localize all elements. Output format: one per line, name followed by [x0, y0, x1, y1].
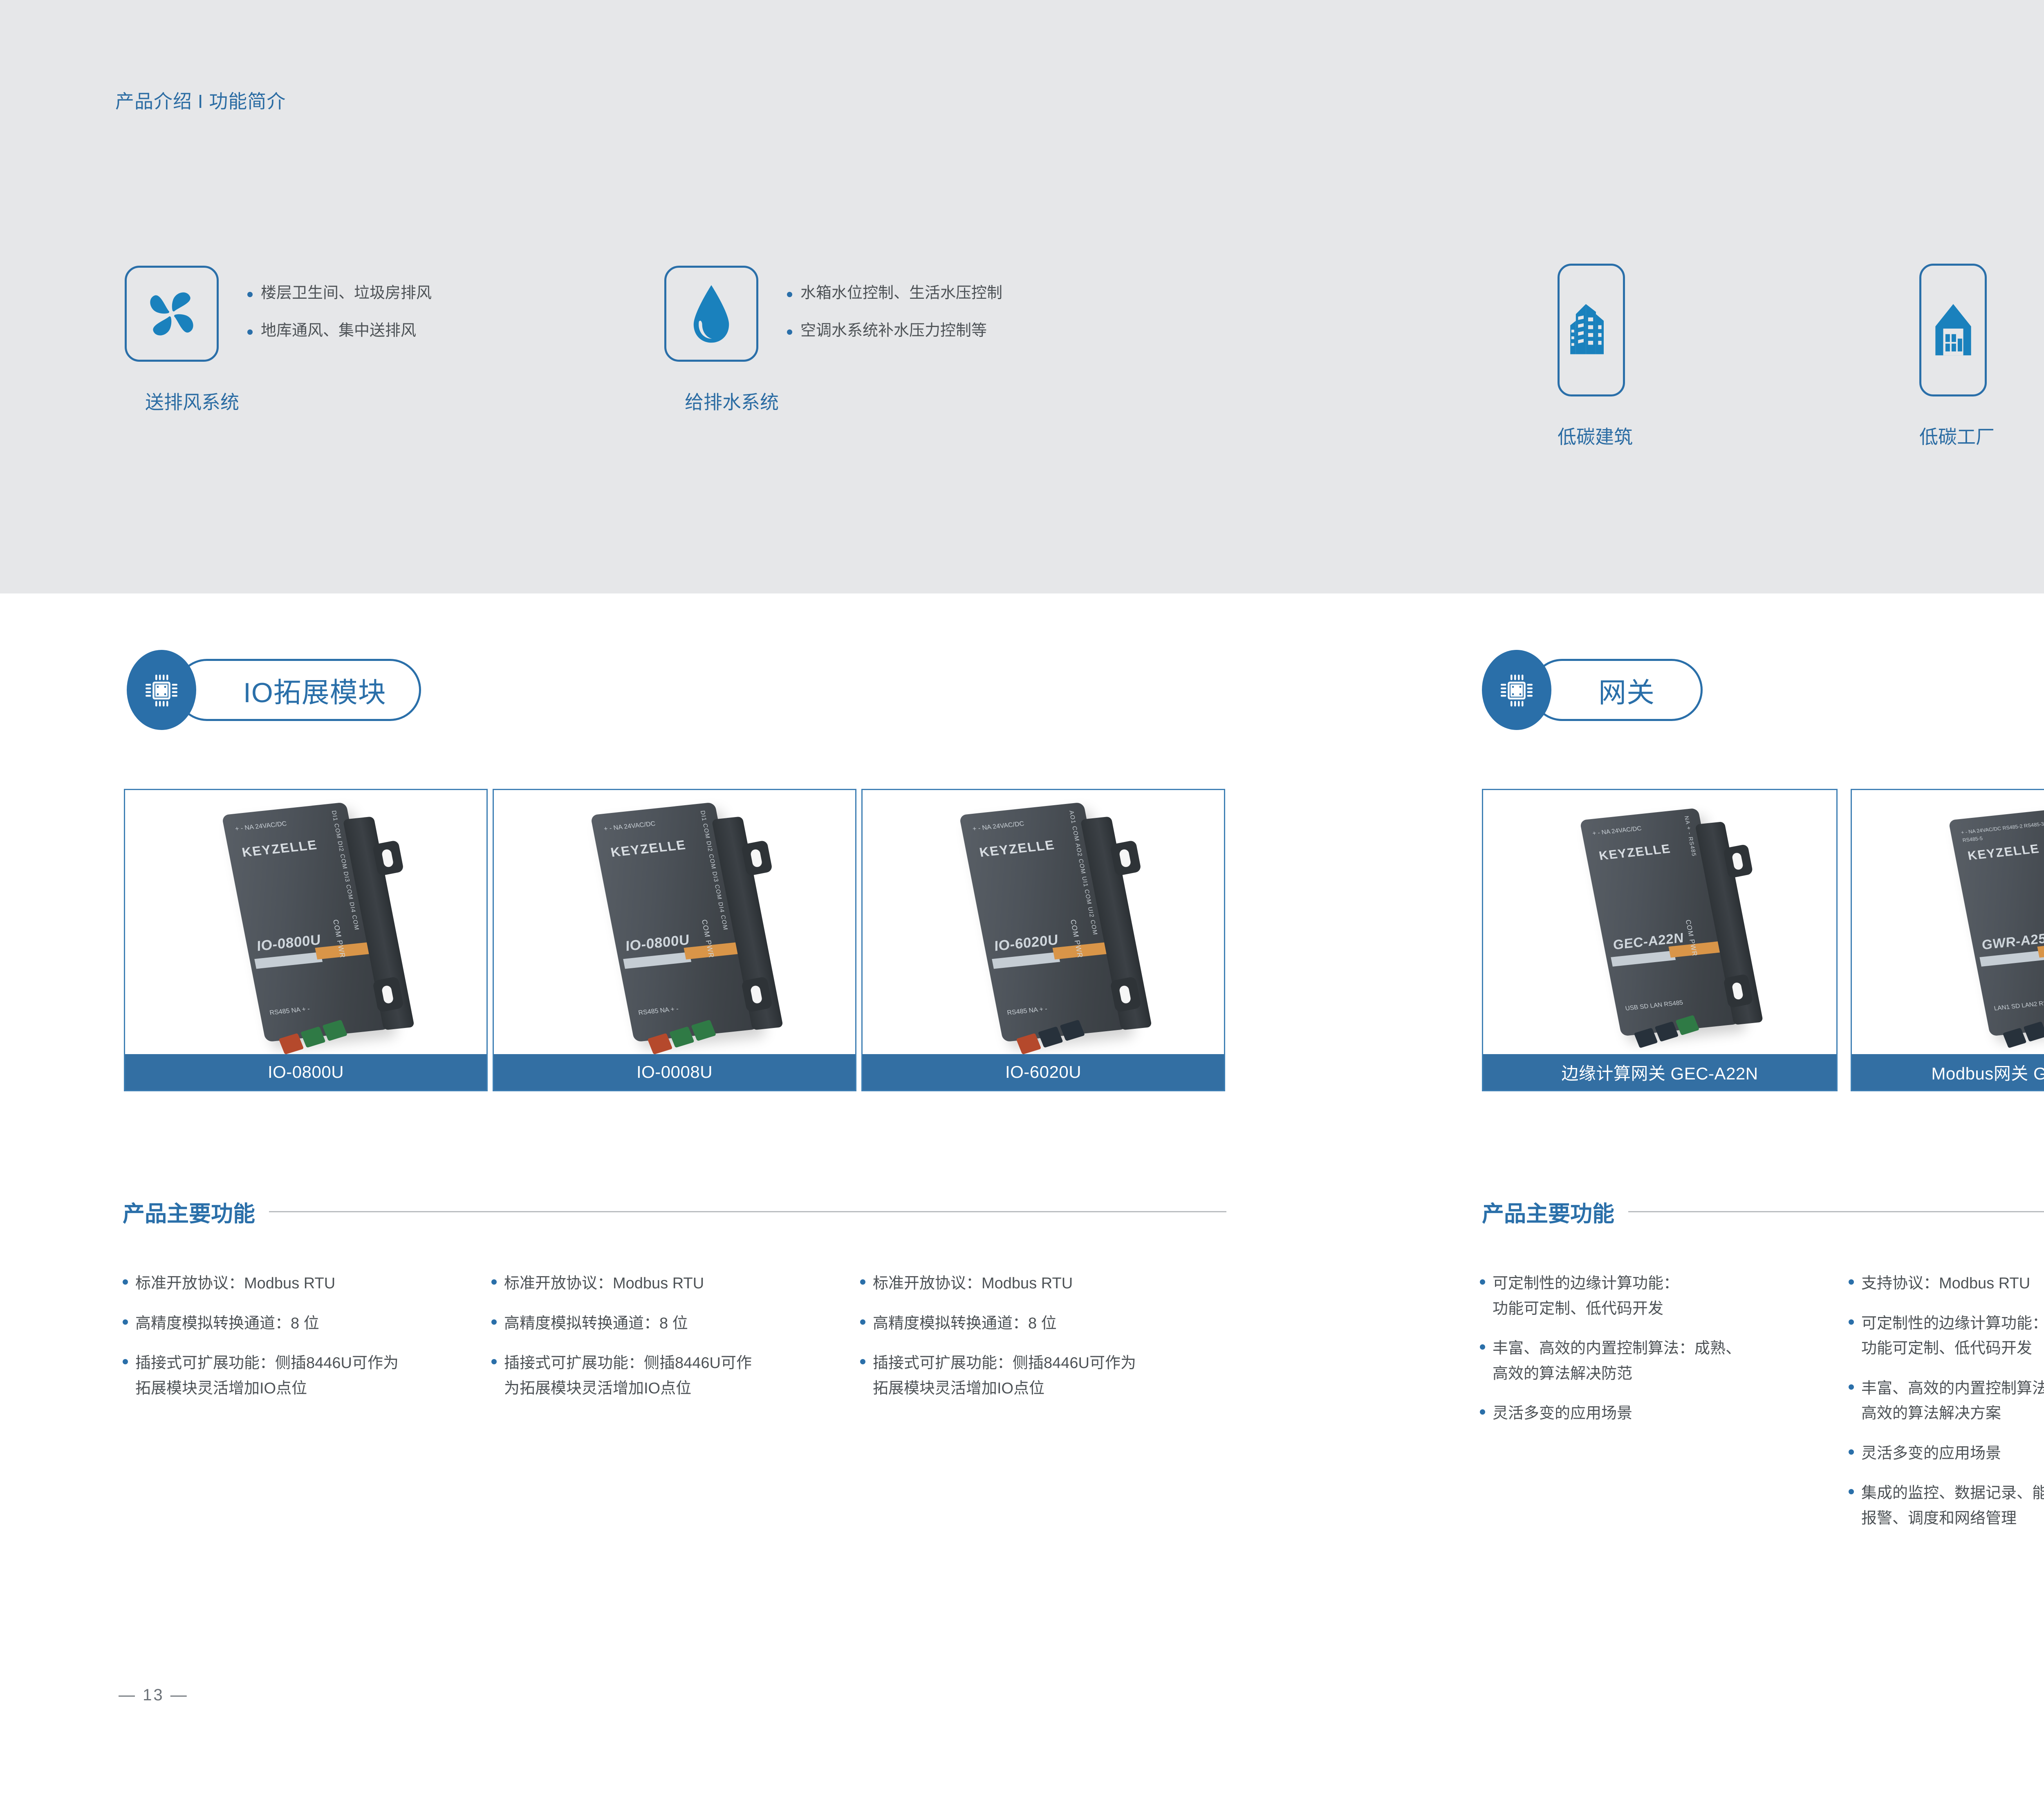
- spec-list-gateway-col2: 支持协议：Modbus RTU 可定制性的边缘计算功能： 功能可定制、低代码开发…: [1849, 1271, 2044, 1546]
- bullet-dot: [491, 1319, 497, 1325]
- device-connectors: [2003, 1015, 2044, 1048]
- bullet-text: 空调水系统补水压力控制等: [800, 321, 987, 341]
- bullet-dot: [247, 329, 253, 335]
- list-item: 水箱水位控制、生活水压控制: [787, 284, 1002, 303]
- device-stripe-white: [623, 952, 691, 969]
- device-body: + - NA 24VAC/DC RS485-2 RS485-3 RS485-4 …: [1948, 808, 2044, 1037]
- office-building-icon: [1569, 300, 1614, 361]
- fan-icon: [141, 283, 202, 345]
- device-illustration: + - NA 24VAC/DC DI1 COM DI2 COM DI3 COM …: [244, 806, 368, 1038]
- device-top-text: + - NA 24VAC/DC: [234, 819, 287, 834]
- feature-bullet-list: 水箱水位控制、生活水压控制 空调水系统补水压力控制等: [787, 284, 1002, 358]
- feature-icon-box: [1919, 264, 1987, 396]
- device-brand: KEYZELLE: [241, 837, 319, 860]
- product-image: + - NA 24VAC/DC DI1 COM DI2 COM DI3 COM …: [125, 790, 486, 1054]
- device-bottom-text: LAN1 SD LAN2 RS485-1: [1993, 997, 2044, 1013]
- list-item: 灵活多变的应用场景: [1480, 1401, 1831, 1426]
- bullet-dot: [1480, 1344, 1485, 1350]
- list-item: 丰富、高效的内置控制算法：成熟、 高效的算法解决方案: [1849, 1376, 2044, 1426]
- list-item: 灵活多变的应用场景: [1849, 1441, 2044, 1467]
- page-number-left: — 13 —: [119, 1686, 188, 1704]
- spec-list-col3: 标准开放协议：Modbus RTU 高精度模拟转换通道：8 位 插接式可扩展功能…: [860, 1271, 1220, 1416]
- factory-icon: [1931, 300, 1976, 361]
- list-item: 空调水系统补水压力控制等: [787, 321, 1002, 341]
- bullet-dot: [860, 1279, 865, 1285]
- brochure-spread: 产品介绍 I 功能简介 产品介绍 I 功能简介 送排风系统 楼层卫生间、垃圾房排…: [0, 0, 2044, 1798]
- spec-text: 插接式可扩展功能：侧插8446U可作 为拓展模块灵活增加IO点位: [504, 1351, 752, 1401]
- device-brand: KEYZELLE: [1598, 842, 1672, 864]
- list-item: 丰富、高效的内置控制算法：成熟、 高效的算法解决防范: [1480, 1336, 1831, 1386]
- list-item: 高精度模拟转换通道：8 位: [123, 1311, 482, 1337]
- device-illustration: + - NA 24VAC/DC NA + - RS485 KEYZELLE GE…: [1600, 812, 1719, 1032]
- list-item: 高精度模拟转换通道：8 位: [860, 1311, 1220, 1337]
- device-stripe-white: [1979, 951, 2044, 967]
- bullet-dot: [1480, 1279, 1485, 1285]
- product-card[interactable]: + - NA 24VAC/DC DI1 COM DI2 COM DI3 COM …: [493, 789, 856, 1091]
- feature-caption: 送排风系统: [125, 387, 260, 414]
- product-image: + - NA 24VAC/DC NA + - RS485 KEYZELLE GE…: [1483, 790, 1836, 1054]
- list-item: 插接式可扩展功能：侧插8446U可作为 拓展模块灵活增加IO点位: [860, 1351, 1220, 1401]
- feature-bullet-list: 楼层卫生间、垃圾房排风 地库通风、集中送排风: [247, 284, 432, 358]
- list-item: 标准开放协议：Modbus RTU: [123, 1271, 482, 1296]
- list-item: 可定制性的边缘计算功能： 功能可定制、低代码开发: [1849, 1311, 2044, 1361]
- device-brand: KEYZELLE: [978, 837, 1056, 860]
- list-item: 地库通风、集中送排风: [247, 321, 432, 341]
- spec-text: 灵活多变的应用场景: [1861, 1441, 2001, 1467]
- bullet-dot: [1849, 1449, 1854, 1455]
- section-pill: IO拓展模块: [176, 659, 421, 721]
- device-brand: KEYZELLE: [1967, 842, 2041, 864]
- bullet-dot: [787, 329, 792, 335]
- device-brand: KEYZELLE: [610, 837, 688, 860]
- bullet-text: 水箱水位控制、生活水压控制: [800, 284, 1002, 303]
- product-label: IO-0800U: [125, 1054, 486, 1090]
- product-card[interactable]: + - NA 24VAC/DC RS485-2 RS485-3 RS485-4 …: [1851, 789, 2044, 1091]
- features-title: 产品主要功能: [123, 1196, 255, 1228]
- device-mount-ear: [741, 840, 773, 876]
- device-top-text: + - NA 24VAC/DC RS485-2 RS485-3 RS485-4 …: [1961, 818, 2044, 844]
- device-stripe-white: [992, 952, 1060, 969]
- spec-text: 插接式可扩展功能：侧插8446U可作为 拓展模块灵活增加IO点位: [135, 1351, 399, 1401]
- bullet-text: 楼层卫生间、垃圾房排风: [261, 284, 432, 303]
- title-rule: [1628, 1211, 2044, 1212]
- device-bottom-text: RS485 NA + -: [637, 1004, 679, 1018]
- section-title: 网关: [1598, 670, 1655, 710]
- device-bottom-text: USB SD LAN RS485: [1625, 998, 1684, 1013]
- list-item: 集成的监控、数据记录、能耗计量、 报警、调度和网络管理: [1849, 1481, 2044, 1531]
- device-mount-ear: [1110, 840, 1142, 876]
- spec-text: 丰富、高效的内置控制算法：成熟、 高效的算法解决防范: [1493, 1336, 1741, 1386]
- product-image: + - NA 24VAC/DC AO1 COM AO2 COM UI1 COM …: [863, 790, 1224, 1054]
- spec-list-col2: 标准开放协议：Modbus RTU 高精度模拟转换通道：8 位 插接式可扩展功能…: [491, 1271, 851, 1416]
- chip-icon-badge: [127, 650, 196, 730]
- bullet-dot: [491, 1279, 497, 1285]
- water-drop-icon: [685, 281, 738, 347]
- product-label: Modbus网关 GWR-A25N: [1852, 1054, 2044, 1090]
- device-mount-ear: [1723, 844, 1753, 879]
- spec-text: 标准开放协议：Modbus RTU: [135, 1271, 335, 1296]
- bullet-text: 地库通风、集中送排风: [261, 321, 416, 341]
- device-stripe-white: [1611, 951, 1676, 967]
- feature-caption: 低碳工厂: [1919, 422, 1987, 449]
- device-mount-ear: [372, 840, 404, 876]
- chip-icon: [1497, 670, 1536, 710]
- bullet-dot: [1480, 1409, 1485, 1415]
- spec-text: 丰富、高效的内置控制算法：成熟、 高效的算法解决方案: [1861, 1376, 2044, 1426]
- product-card[interactable]: + - NA 24VAC/DC NA + - RS485 KEYZELLE GE…: [1482, 789, 1838, 1091]
- features-title: 产品主要功能: [1482, 1196, 1614, 1228]
- chip-icon-badge: [1482, 650, 1551, 730]
- device-top-text: + - NA 24VAC/DC: [1592, 824, 1643, 838]
- spec-list-col1: 标准开放协议：Modbus RTU 高精度模拟转换通道：8 位 插接式可扩展功能…: [123, 1271, 482, 1416]
- bullet-dot: [123, 1279, 128, 1285]
- spec-text: 可定制性的边缘计算功能： 功能可定制、低代码开发: [1493, 1271, 1679, 1321]
- product-image: + - NA 24VAC/DC DI1 COM DI2 COM DI3 COM …: [494, 790, 855, 1054]
- bullet-dot: [860, 1359, 865, 1364]
- running-head-left: 产品介绍 I 功能简介: [115, 87, 286, 114]
- device-illustration: + - NA 24VAC/DC RS485-2 RS485-3 RS485-4 …: [1969, 812, 2044, 1032]
- bullet-dot: [860, 1319, 865, 1325]
- device-illustration: + - NA 24VAC/DC DI1 COM DI2 COM DI3 COM …: [612, 806, 737, 1038]
- feature-icon-box: [1558, 264, 1625, 396]
- title-rule: [269, 1211, 1226, 1212]
- device-top-pins: NA + - RS485: [1683, 816, 1697, 857]
- device-bottom-text: RS485 NA + -: [1006, 1004, 1048, 1018]
- list-item: 插接式可扩展功能：侧插8446U可作 为拓展模块灵活增加IO点位: [491, 1351, 851, 1401]
- list-item: 标准开放协议：Modbus RTU: [860, 1271, 1220, 1296]
- spec-list-gateway-col1: 可定制性的边缘计算功能： 功能可定制、低代码开发 丰富、高效的内置控制算法：成熟…: [1480, 1271, 1831, 1441]
- device-illustration: + - NA 24VAC/DC AO1 COM AO2 COM UI1 COM …: [981, 806, 1106, 1038]
- chip-icon: [142, 670, 181, 710]
- bullet-dot: [123, 1319, 128, 1325]
- feature-icon-box: [125, 266, 219, 362]
- spec-text: 支持协议：Modbus RTU: [1861, 1271, 2030, 1296]
- device-model: GWR-A25N: [1980, 930, 2044, 954]
- device-model: IO-6020U: [993, 932, 1060, 955]
- device-connectors: [647, 1020, 716, 1055]
- list-item: 可定制性的边缘计算功能： 功能可定制、低代码开发: [1480, 1271, 1831, 1321]
- features-title-row-left: 产品主要功能: [123, 1196, 1226, 1228]
- feature-icon-box: [664, 266, 758, 362]
- bullet-dot: [1849, 1489, 1854, 1494]
- list-item: 支持协议：Modbus RTU: [1849, 1271, 2044, 1296]
- spec-text: 高精度模拟转换通道：8 位: [504, 1311, 688, 1337]
- device-model: IO-0800U: [624, 932, 691, 955]
- bullet-dot: [491, 1359, 497, 1364]
- spec-text: 标准开放协议：Modbus RTU: [504, 1271, 704, 1296]
- spec-text: 灵活多变的应用场景: [1493, 1401, 1632, 1426]
- section-title: IO拓展模块: [243, 670, 386, 710]
- product-label: IO-0008U: [494, 1054, 855, 1090]
- bullet-dot: [1849, 1279, 1854, 1285]
- feature-caption: 给排水系统: [664, 387, 799, 414]
- device-bottom-text: RS485 NA + -: [269, 1004, 310, 1018]
- device-top-text: + - NA 24VAC/DC: [972, 819, 1025, 834]
- device-model: IO-0800U: [255, 932, 322, 955]
- device-stripe-white: [254, 952, 323, 969]
- product-label: 边缘计算网关 GEC-A22N: [1483, 1054, 1836, 1090]
- spec-text: 可定制性的边缘计算功能： 功能可定制、低代码开发: [1861, 1311, 2044, 1361]
- bullet-dot: [247, 292, 253, 297]
- spec-text: 集成的监控、数据记录、能耗计量、 报警、调度和网络管理: [1861, 1481, 2044, 1531]
- features-title-row-right: 产品主要功能: [1482, 1196, 2044, 1228]
- bullet-dot: [787, 292, 792, 297]
- product-image: + - NA 24VAC/DC RS485-2 RS485-3 RS485-4 …: [1852, 790, 2044, 1054]
- list-item: 高精度模拟转换通道：8 位: [491, 1311, 851, 1337]
- bullet-dot: [1849, 1384, 1854, 1390]
- device-top-text: + - NA 24VAC/DC: [603, 819, 656, 834]
- list-item: 插接式可扩展功能：侧插8446U可作为 拓展模块灵活增加IO点位: [123, 1351, 482, 1401]
- product-card[interactable]: + - NA 24VAC/DC AO1 COM AO2 COM UI1 COM …: [861, 789, 1225, 1091]
- spec-text: 高精度模拟转换通道：8 位: [135, 1311, 319, 1337]
- device-connectors: [1634, 1015, 1699, 1048]
- spec-text: 高精度模拟转换通道：8 位: [873, 1311, 1057, 1337]
- list-item: 楼层卫生间、垃圾房排风: [247, 284, 432, 303]
- device-connectors: [278, 1020, 347, 1055]
- device-connectors: [1016, 1020, 1085, 1055]
- section-pill: 网关: [1531, 659, 1703, 721]
- bullet-dot: [123, 1359, 128, 1364]
- product-card[interactable]: + - NA 24VAC/DC DI1 COM DI2 COM DI3 COM …: [124, 789, 488, 1091]
- spec-text: 插接式可扩展功能：侧插8446U可作为 拓展模块灵活增加IO点位: [873, 1351, 1136, 1401]
- bullet-dot: [1849, 1319, 1854, 1325]
- feature-caption: 低碳建筑: [1558, 422, 1625, 449]
- product-label: IO-6020U: [863, 1054, 1224, 1090]
- spec-text: 标准开放协议：Modbus RTU: [873, 1271, 1073, 1296]
- list-item: 标准开放协议：Modbus RTU: [491, 1271, 851, 1296]
